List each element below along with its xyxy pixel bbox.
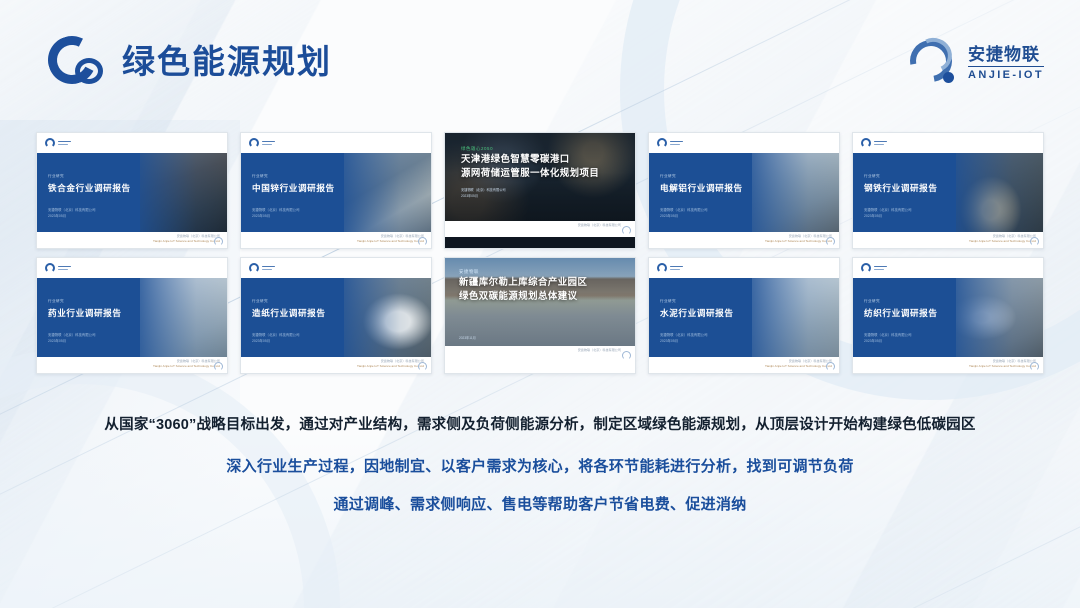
card-subline-1: 安捷物联（北京）科技有限公司	[660, 333, 734, 338]
card-header	[37, 133, 227, 153]
card-header	[37, 258, 227, 278]
card-foot-cn: 安捷物联（北京）科技有限公司	[578, 348, 621, 353]
card-header	[241, 133, 431, 153]
card-title: 纺织行业调研报告	[864, 307, 938, 319]
mini-logo-icon	[657, 138, 683, 148]
card-header	[853, 133, 1043, 153]
card-foot-cn: 安捷物联（北京）科技有限公司	[578, 223, 621, 228]
report-card[interactable]: 行业研究 造纸行业调研报告 安捷物联（北京）科技有限公司 2023年05月 安捷…	[240, 257, 432, 374]
card-band: 行业研究 纺织行业调研报告 安捷物联（北京）科技有限公司 2023年05月	[853, 278, 1043, 357]
card-title: 水泥行业调研报告	[660, 307, 734, 319]
card-subline-1: 安捷物联（北京）科技有限公司	[864, 333, 938, 338]
card-kicker: 行业研究	[660, 173, 743, 179]
card-foot-en: Tianjin Anjie IoT Science and Technology…	[765, 239, 832, 244]
page-header: 绿色能源规划 安捷物联 ANJIE-IOT	[0, 0, 1080, 118]
card-footer-mark-icon	[1030, 237, 1039, 246]
card-subline-2: 2023年05月	[864, 214, 938, 219]
corporate-logo: 安捷物联 ANJIE-IOT	[907, 34, 1044, 92]
card-footer: 安捷物联（北京）科技有限公司 Tianjin Anjie IoT Science…	[853, 357, 1043, 373]
card-title: 电解铝行业调研报告	[660, 182, 743, 194]
card-title: 中国锌行业调研报告	[252, 182, 335, 194]
card-footer: 安捷物联（北京）科技有限公司 Tianjin Anjie IoT Science…	[37, 357, 227, 373]
card-kicker: 行业研究	[48, 173, 131, 179]
card-kicker: 绿色雄心2050	[461, 145, 599, 152]
mini-logo-icon	[45, 263, 71, 273]
card-title-line-2: 源网荷储运管服一体化规划项目	[461, 166, 599, 180]
report-card[interactable]: 行业研究 纺织行业调研报告 安捷物联（北京）科技有限公司 2023年05月 安捷…	[852, 257, 1044, 374]
card-subline-2: 2023年05月	[252, 339, 326, 344]
card-subline-1: 安捷物联（北京）科技有限公司	[252, 333, 326, 338]
card-footer: 安捷物联（北京）科技有限公司	[445, 221, 635, 237]
report-card[interactable]: 行业研究 铁合金行业调研报告 安捷物联（北京）科技有限公司 2023年05月 安…	[36, 132, 228, 249]
card-foot-en: Tianjin Anjie IoT Science and Technology…	[969, 364, 1036, 369]
card-foot-en: Tianjin Anjie IoT Science and Technology…	[153, 239, 220, 244]
card-footer-mark-icon	[418, 237, 427, 246]
card-header	[649, 258, 839, 278]
card-footer: 安捷物联（北京）科技有限公司	[445, 346, 635, 362]
card-subline-1: 安捷物联（北京）科技有限公司	[461, 188, 599, 193]
overlapping-circles-logo-icon	[48, 36, 110, 88]
mini-logo-icon	[861, 138, 887, 148]
card-band: 行业研究 水泥行业调研报告 安捷物联（北京）科技有限公司 2023年05月	[649, 278, 839, 357]
card-title-line-1: 新疆库尔勒上库综合产业园区	[459, 275, 587, 289]
card-footer-mark-icon	[826, 237, 835, 246]
card-subline-1: 安捷物联（北京）科技有限公司	[48, 333, 122, 338]
card-subline-2: 2023年05月	[660, 339, 734, 344]
card-header	[649, 133, 839, 153]
card-foot-en: Tianjin Anjie IoT Science and Technology…	[969, 239, 1036, 244]
card-footer: 安捷物联（北京）科技有限公司 Tianjin Anjie IoT Science…	[853, 232, 1043, 248]
card-band: 绿色雄心2050 天津港绿色智慧零碳港口 源网荷储运管服一体化规划项目 安捷物联…	[445, 133, 635, 221]
card-title: 铁合金行业调研报告	[48, 182, 131, 194]
card-footer: 安捷物联（北京）科技有限公司 Tianjin Anjie IoT Science…	[649, 357, 839, 373]
summary-line-1: 从国家“3060”战略目标出发，通过对产业结构，需求侧及负荷侧能源分析，制定区域…	[0, 412, 1080, 438]
summary-line-2: 深入行业生产过程，因地制宜、以客户需求为核心，将各环节能耗进行分析，找到可调节负…	[0, 454, 1080, 480]
card-kicker: 行业研究	[864, 173, 938, 179]
report-card[interactable]: 行业研究 钢铁行业调研报告 安捷物联（北京）科技有限公司 2023年05月 安捷…	[852, 132, 1044, 249]
report-card[interactable]: 行业研究 药业行业调研报告 安捷物联（北京）科技有限公司 2023年05月 安捷…	[36, 257, 228, 374]
mini-logo-icon	[861, 263, 887, 273]
mini-logo-icon	[249, 138, 275, 148]
card-foot-en: Tianjin Anjie IoT Science and Technology…	[765, 364, 832, 369]
summary-text-block: 从国家“3060”战略目标出发，通过对产业结构，需求侧及负荷侧能源分析，制定区域…	[0, 412, 1080, 518]
card-band: 行业研究 电解铝行业调研报告 安捷物联（北京）科技有限公司 2023年05月	[649, 153, 839, 232]
card-subline-1: 安捷物联（北京）科技有限公司	[864, 208, 938, 213]
card-footer-mark-icon	[622, 226, 631, 235]
report-card[interactable]: 行业研究 电解铝行业调研报告 安捷物联（北京）科技有限公司 2023年05月 安…	[648, 132, 840, 249]
card-kicker: 行业研究	[48, 298, 122, 304]
card-subline-2: 2023年05月	[864, 339, 938, 344]
card-subline-2: 2023年05月	[461, 194, 599, 199]
mini-logo-icon	[45, 138, 71, 148]
card-band: 行业研究 造纸行业调研报告 安捷物联（北京）科技有限公司 2023年05月	[241, 278, 431, 357]
report-card[interactable]: 新疆库尔勒经济技术开发区 安捷物联 新疆库尔勒上库综合产业园区 绿色双碳能源规划…	[444, 257, 636, 374]
card-kicker: 行业研究	[252, 298, 326, 304]
card-kicker: 行业研究	[660, 298, 734, 304]
card-foot-en: Tianjin Anjie IoT Science and Technology…	[153, 364, 220, 369]
card-footer: 安捷物联（北京）科技有限公司 Tianjin Anjie IoT Science…	[241, 232, 431, 248]
card-footer-mark-icon	[214, 237, 223, 246]
corp-name-cn: 安捷物联	[968, 45, 1044, 64]
card-footer: 安捷物联（北京）科技有限公司 Tianjin Anjie IoT Science…	[37, 232, 227, 248]
card-title-line-2: 绿色双碳能源规划总体建议	[459, 289, 587, 303]
card-kicker: 安捷物联	[459, 268, 587, 275]
card-band: 行业研究 中国锌行业调研报告 安捷物联（北京）科技有限公司 2023年05月	[241, 153, 431, 232]
card-subline-2: 2023年05月	[48, 339, 122, 344]
card-band: 行业研究 药业行业调研报告 安捷物联（北京）科技有限公司 2023年05月	[37, 278, 227, 357]
card-title-line-1: 天津港绿色智慧零碳港口	[461, 152, 599, 166]
card-footer-mark-icon	[418, 362, 427, 371]
page-title: 绿色能源规划	[122, 38, 332, 86]
card-footer: 安捷物联（北京）科技有限公司 Tianjin Anjie IoT Science…	[241, 357, 431, 373]
card-subline-1: 2023年11月	[459, 336, 476, 341]
card-subline-1: 安捷物联（北京）科技有限公司	[252, 208, 335, 213]
card-header	[853, 258, 1043, 278]
anjie-circle-logo-icon	[907, 37, 959, 89]
summary-line-3: 通过调峰、需求侧响应、售电等帮助客户节省电费、促进消纳	[0, 492, 1080, 518]
card-kicker: 行业研究	[252, 173, 335, 179]
report-card[interactable]: 天津港集团 · 安捷物联 绿色雄心2050 天津港绿色智慧零碳港口 源网荷储运管…	[444, 132, 636, 249]
card-band: 行业研究 铁合金行业调研报告 安捷物联（北京）科技有限公司 2023年05月	[37, 153, 227, 232]
card-footer: 安捷物联（北京）科技有限公司 Tianjin Anjie IoT Science…	[649, 232, 839, 248]
card-subline-1: 安捷物联（北京）科技有限公司	[660, 208, 743, 213]
card-title: 造纸行业调研报告	[252, 307, 326, 319]
card-footer-mark-icon	[214, 362, 223, 371]
card-title: 钢铁行业调研报告	[864, 182, 938, 194]
card-subline-2: 2023年05月	[660, 214, 743, 219]
mini-logo-icon	[657, 263, 683, 273]
card-foot-en: Tianjin Anjie IoT Science and Technology…	[357, 239, 424, 244]
card-footer-mark-icon	[826, 362, 835, 371]
card-footer-mark-icon	[1030, 362, 1039, 371]
report-card[interactable]: 行业研究 水泥行业调研报告 安捷物联（北京）科技有限公司 2023年05月 安捷…	[648, 257, 840, 374]
card-title: 药业行业调研报告	[48, 307, 122, 319]
card-header	[241, 258, 431, 278]
card-foot-en: Tianjin Anjie IoT Science and Technology…	[357, 364, 424, 369]
report-card-grid: 行业研究 铁合金行业调研报告 安捷物联（北京）科技有限公司 2023年05月 安…	[0, 132, 1080, 374]
mini-logo-icon	[249, 263, 275, 273]
card-subline-2: 2023年05月	[252, 214, 335, 219]
card-footer-mark-icon	[622, 351, 631, 360]
report-card[interactable]: 行业研究 中国锌行业调研报告 安捷物联（北京）科技有限公司 2023年05月 安…	[240, 132, 432, 249]
card-kicker: 行业研究	[864, 298, 938, 304]
card-subline-1: 安捷物联（北京）科技有限公司	[48, 208, 131, 213]
card-subline-2: 2023年05月	[48, 214, 131, 219]
card-band: 安捷物联 新疆库尔勒上库综合产业园区 绿色双碳能源规划总体建议 2023年11月	[445, 258, 635, 346]
corp-name-en: ANJIE-IOT	[968, 66, 1044, 82]
card-band: 行业研究 钢铁行业调研报告 安捷物联（北京）科技有限公司 2023年05月	[853, 153, 1043, 232]
